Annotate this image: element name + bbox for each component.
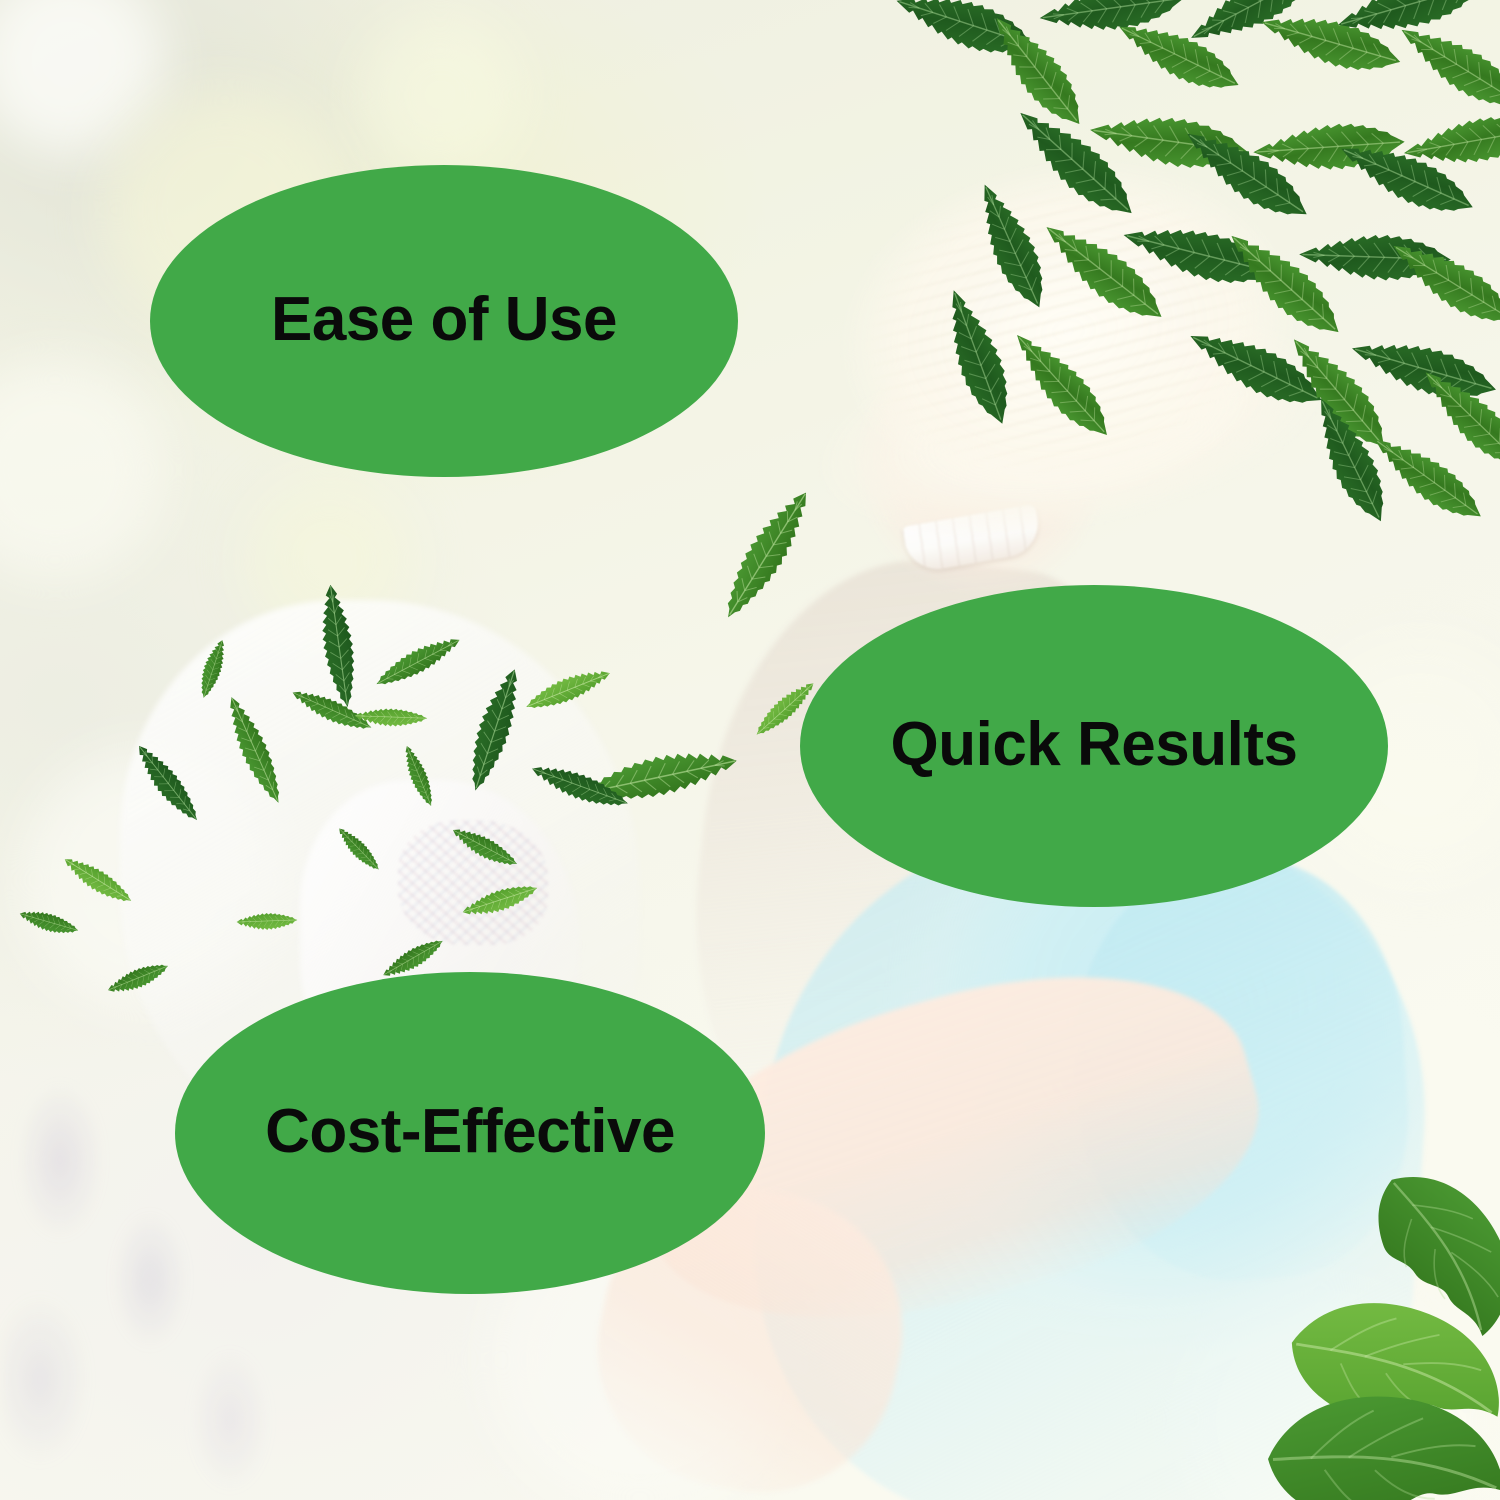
flying-leaf: [365, 620, 470, 704]
flying-leaf: [392, 739, 446, 812]
flying-leaf: [443, 813, 526, 881]
flying-leaf: [456, 869, 544, 932]
benefit-bubble-quick-results[interactable]: Quick Results: [800, 585, 1388, 907]
flying-leaf: [15, 897, 84, 947]
mint-leaves-corner: [1250, 1180, 1500, 1500]
canopy-leaf: [1396, 98, 1500, 184]
flying-leaf: [120, 731, 215, 835]
flying-leaf: [53, 842, 142, 918]
benefit-label-ease-of-use: Ease of Use: [245, 289, 643, 351]
benefit-bubble-cost-effective[interactable]: Cost-Effective: [175, 972, 765, 1294]
poster-canvas: Ease of Use Quick Results Cost-Effective: [0, 0, 1500, 1500]
benefit-label-quick-results: Quick Results: [865, 714, 1324, 776]
foliage-canopy: [880, 0, 1500, 530]
flying-leaf: [353, 699, 428, 736]
benefit-label-cost-effective: Cost-Effective: [239, 1101, 701, 1163]
flying-leaf: [101, 949, 176, 1007]
flying-leaf: [235, 904, 298, 938]
flying-leaf: [187, 634, 238, 703]
flying-leaf: [517, 652, 619, 727]
flying-leaf: [698, 473, 837, 637]
benefit-bubble-ease-of-use[interactable]: Ease of Use: [150, 165, 738, 477]
flying-leaf: [328, 818, 390, 881]
